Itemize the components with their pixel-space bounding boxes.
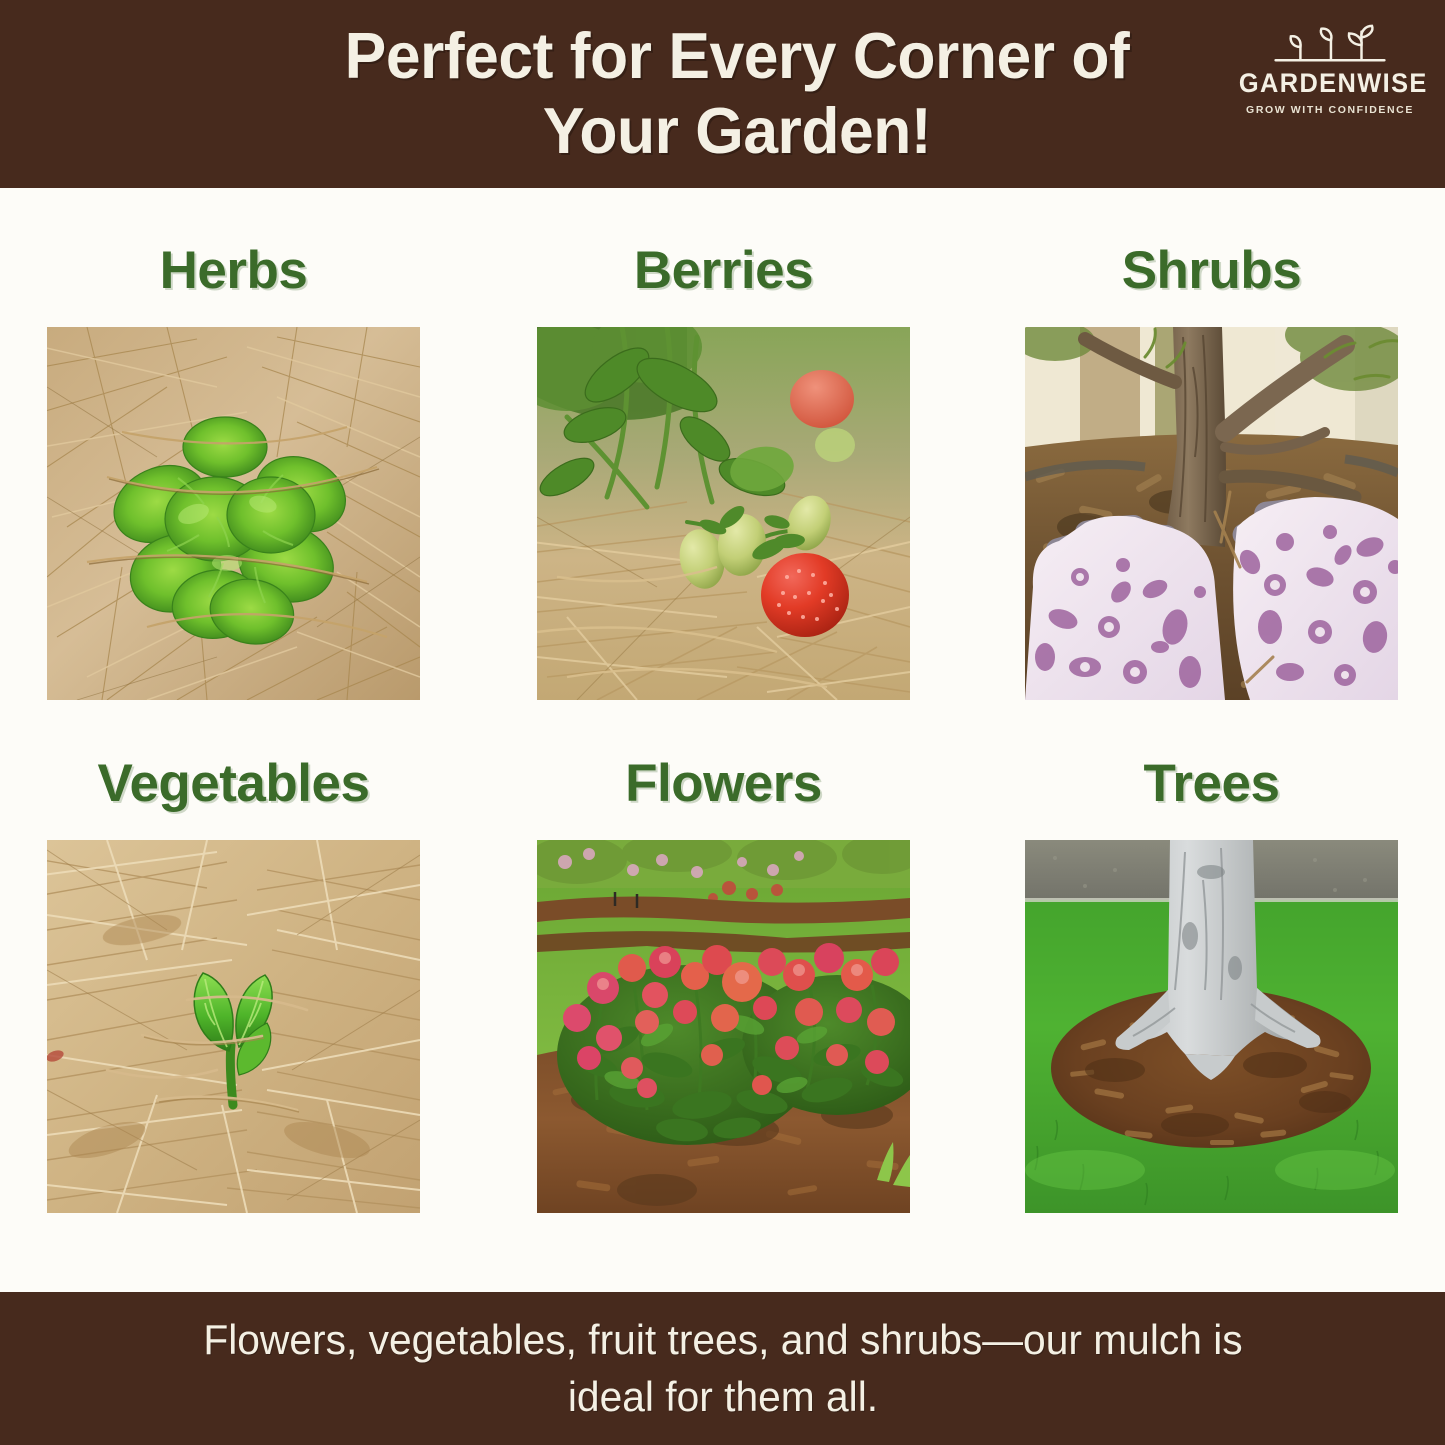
category-cell-herbs: Herbs <box>47 215 420 707</box>
title-line-2: Your Garden! <box>237 94 1235 169</box>
caption-line-2: ideal for them all. <box>116 1369 1329 1426</box>
category-photo-herbs <box>47 327 420 700</box>
header-band: Perfect for Every Corner of Your Garden! <box>0 0 1445 188</box>
category-label: Vegetables <box>47 728 420 840</box>
category-grid: Herbs <box>0 188 1445 1292</box>
category-cell-shrubs: Shrubs <box>1025 215 1398 707</box>
category-cell-trees: Trees <box>1025 728 1398 1220</box>
promo-infographic: Perfect for Every Corner of Your Garden! <box>0 0 1445 1445</box>
brand-logo: GARDENWISE GROW WITH CONFIDENCE <box>1233 24 1427 116</box>
footer-caption: Flowers, vegetables, fruit trees, and sh… <box>116 1312 1329 1425</box>
title-line-1: Perfect for Every Corner of <box>237 19 1235 94</box>
category-photo-flowers <box>537 840 910 1213</box>
category-photo-shrubs <box>1025 327 1398 700</box>
three-sprouts-icon <box>1233 24 1427 66</box>
category-label: Trees <box>1025 728 1398 840</box>
category-cell-flowers: Flowers <box>537 728 910 1220</box>
category-label: Berries <box>537 215 910 327</box>
category-label: Herbs <box>47 215 420 327</box>
category-photo-trees <box>1025 840 1398 1213</box>
category-label: Shrubs <box>1025 215 1398 327</box>
page-title: Perfect for Every Corner of Your Garden! <box>237 19 1235 169</box>
grid-row-2: Vegetables <box>47 728 1398 1220</box>
footer-band: Flowers, vegetables, fruit trees, and sh… <box>0 1292 1445 1445</box>
logo-wordmark: GARDENWISE <box>1239 68 1421 99</box>
category-cell-berries: Berries <box>537 215 910 707</box>
category-cell-vegetables: Vegetables <box>47 728 420 1220</box>
grid-row-1: Herbs <box>47 215 1398 707</box>
category-label: Flowers <box>537 728 910 840</box>
category-photo-vegetables <box>47 840 420 1213</box>
caption-line-1: Flowers, vegetables, fruit trees, and sh… <box>116 1312 1329 1369</box>
category-photo-berries <box>537 327 910 700</box>
logo-tagline: GROW WITH CONFIDENCE <box>1233 104 1427 116</box>
